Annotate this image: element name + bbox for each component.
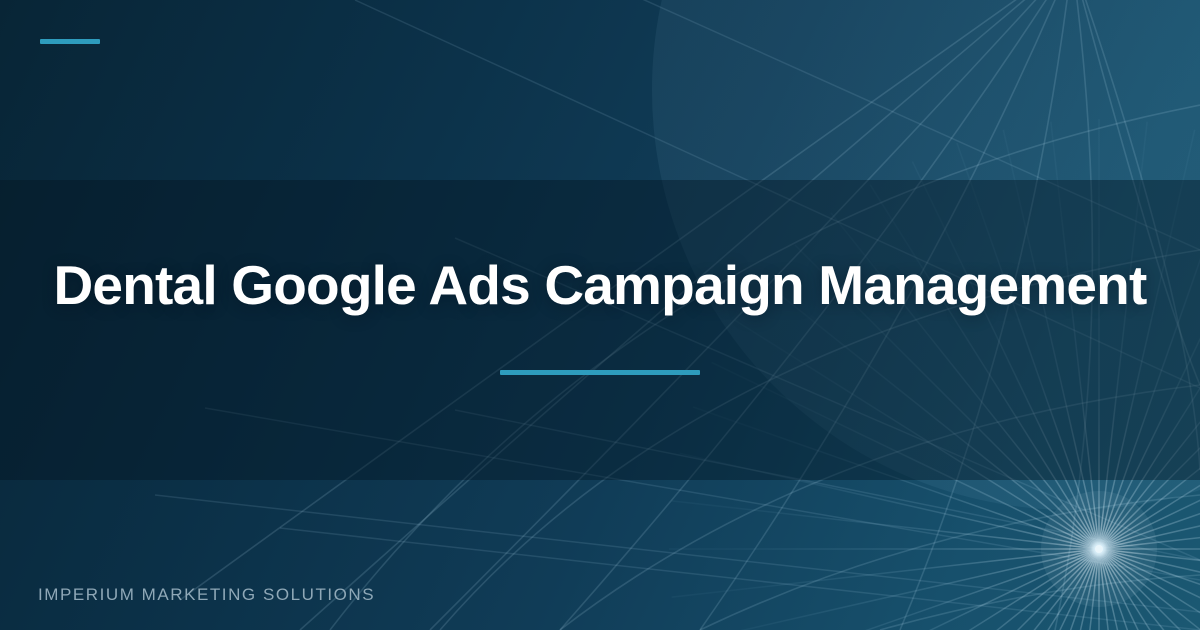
share-card: Dental Google Ads Campaign Management IM… bbox=[0, 0, 1200, 630]
title-block: Dental Google Ads Campaign Management bbox=[0, 0, 1200, 630]
card-content: Dental Google Ads Campaign Management IM… bbox=[0, 0, 1200, 630]
title-underline bbox=[500, 370, 700, 375]
brand-wordmark: IMPERIUM MARKETING SOLUTIONS bbox=[38, 585, 375, 605]
page-title: Dental Google Ads Campaign Management bbox=[0, 255, 1200, 317]
